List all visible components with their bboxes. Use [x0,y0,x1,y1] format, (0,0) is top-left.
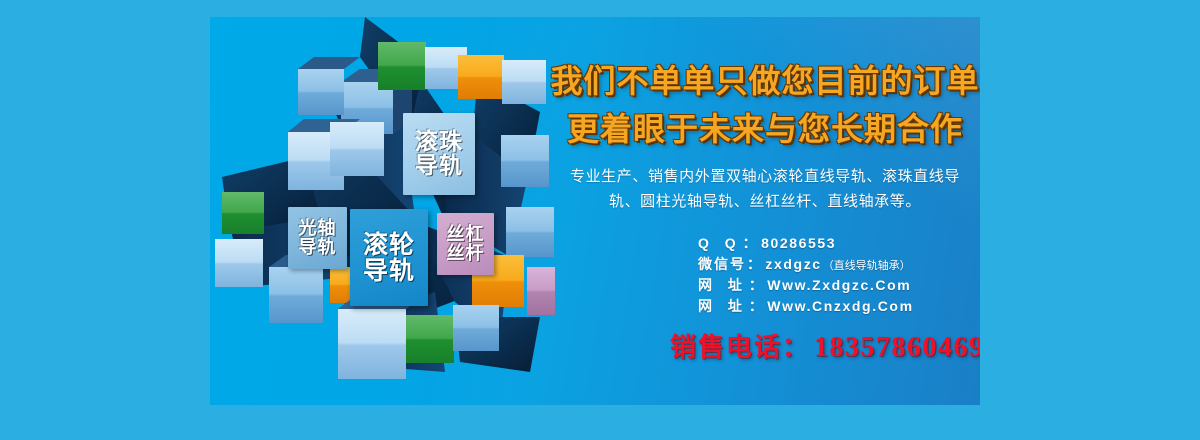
website1-separator: ： [749,275,763,295]
cube-label-line2: 导轨 [415,154,463,178]
contact-row-qq: Q Q ： 80286553 [698,233,914,254]
contact-row-website-1[interactable]: 网 址 ： Www.Zxdgzc.Com [698,275,914,296]
qq-label: Q Q [698,235,742,251]
sales-phone-number: 18357860469 [814,332,980,363]
sales-phone-label: 销售电话： [670,332,810,362]
wechat-label: 微信号 [698,254,746,274]
cube-label-roller-guide: 滚轮 导轨 [350,209,428,306]
qq-value: 80286553 [761,235,836,251]
cube-label-line2: 丝杆 [447,244,485,263]
contact-row-website-2[interactable]: 网 址 ： Www.Cnzxdg.Com [698,296,914,317]
wechat-value: zxdgzc [765,256,821,272]
cube-label-line1: 丝杠 [447,225,485,244]
wechat-separator: ： [747,254,761,274]
website2-value[interactable]: Www.Cnzxdg.Com [767,298,913,314]
cube-label-line1: 光轴 [299,219,337,238]
headline-line-1: 我们不单单只做您目前的订单 [550,56,980,102]
headline-line-2: 更着眼于未来与您长期合作 [550,104,980,150]
intro-paragraph: 专业生产、销售内外置双轴心滚轮直线导轨、滚珠直线导轨、圆柱光轴导轨、丝杠丝杆、直… [562,165,968,215]
cube-label-lead-screw: 丝杠 丝杆 [437,213,494,275]
cube-label-line2: 导轨 [299,238,337,257]
cube-label-ball-guide: 滚珠 导轨 [403,113,475,195]
contact-block: Q Q ： 80286553 微信号 ： zxdgzc （直线导轨轴承） 网 址… [698,233,914,317]
cube-label-line1: 滚珠 [415,130,463,154]
website2-label: 网 址 [698,296,748,316]
sales-phone: 销售电话：18357860469 [670,327,980,364]
promo-panel: 滚珠 导轨 光轴 导轨 滚轮 导轨 丝杠 丝杆 我们不单单只做您目前的订单 更着… [210,17,980,405]
promo-banner: 滚珠 导轨 光轴 导轨 滚轮 导轨 丝杠 丝杆 我们不单单只做您目前的订单 更着… [0,0,1200,440]
qq-separator: ： [743,233,757,253]
website1-value[interactable]: Www.Zxdgzc.Com [767,277,911,293]
cube-label-line1: 滚轮 [363,232,415,258]
cube-label-shaft-guide: 光轴 导轨 [288,207,347,269]
wechat-note: （直线导轨轴承） [823,257,911,273]
contact-row-wechat: 微信号 ： zxdgzc （直线导轨轴承） [698,254,914,275]
website2-separator: ： [749,296,763,316]
website1-label: 网 址 [698,275,748,295]
copy-column: 我们不单单只做您目前的订单 更着眼于未来与您长期合作 专业生产、销售内外置双轴心… [550,17,980,405]
cube-label-line2: 导轨 [363,258,415,284]
